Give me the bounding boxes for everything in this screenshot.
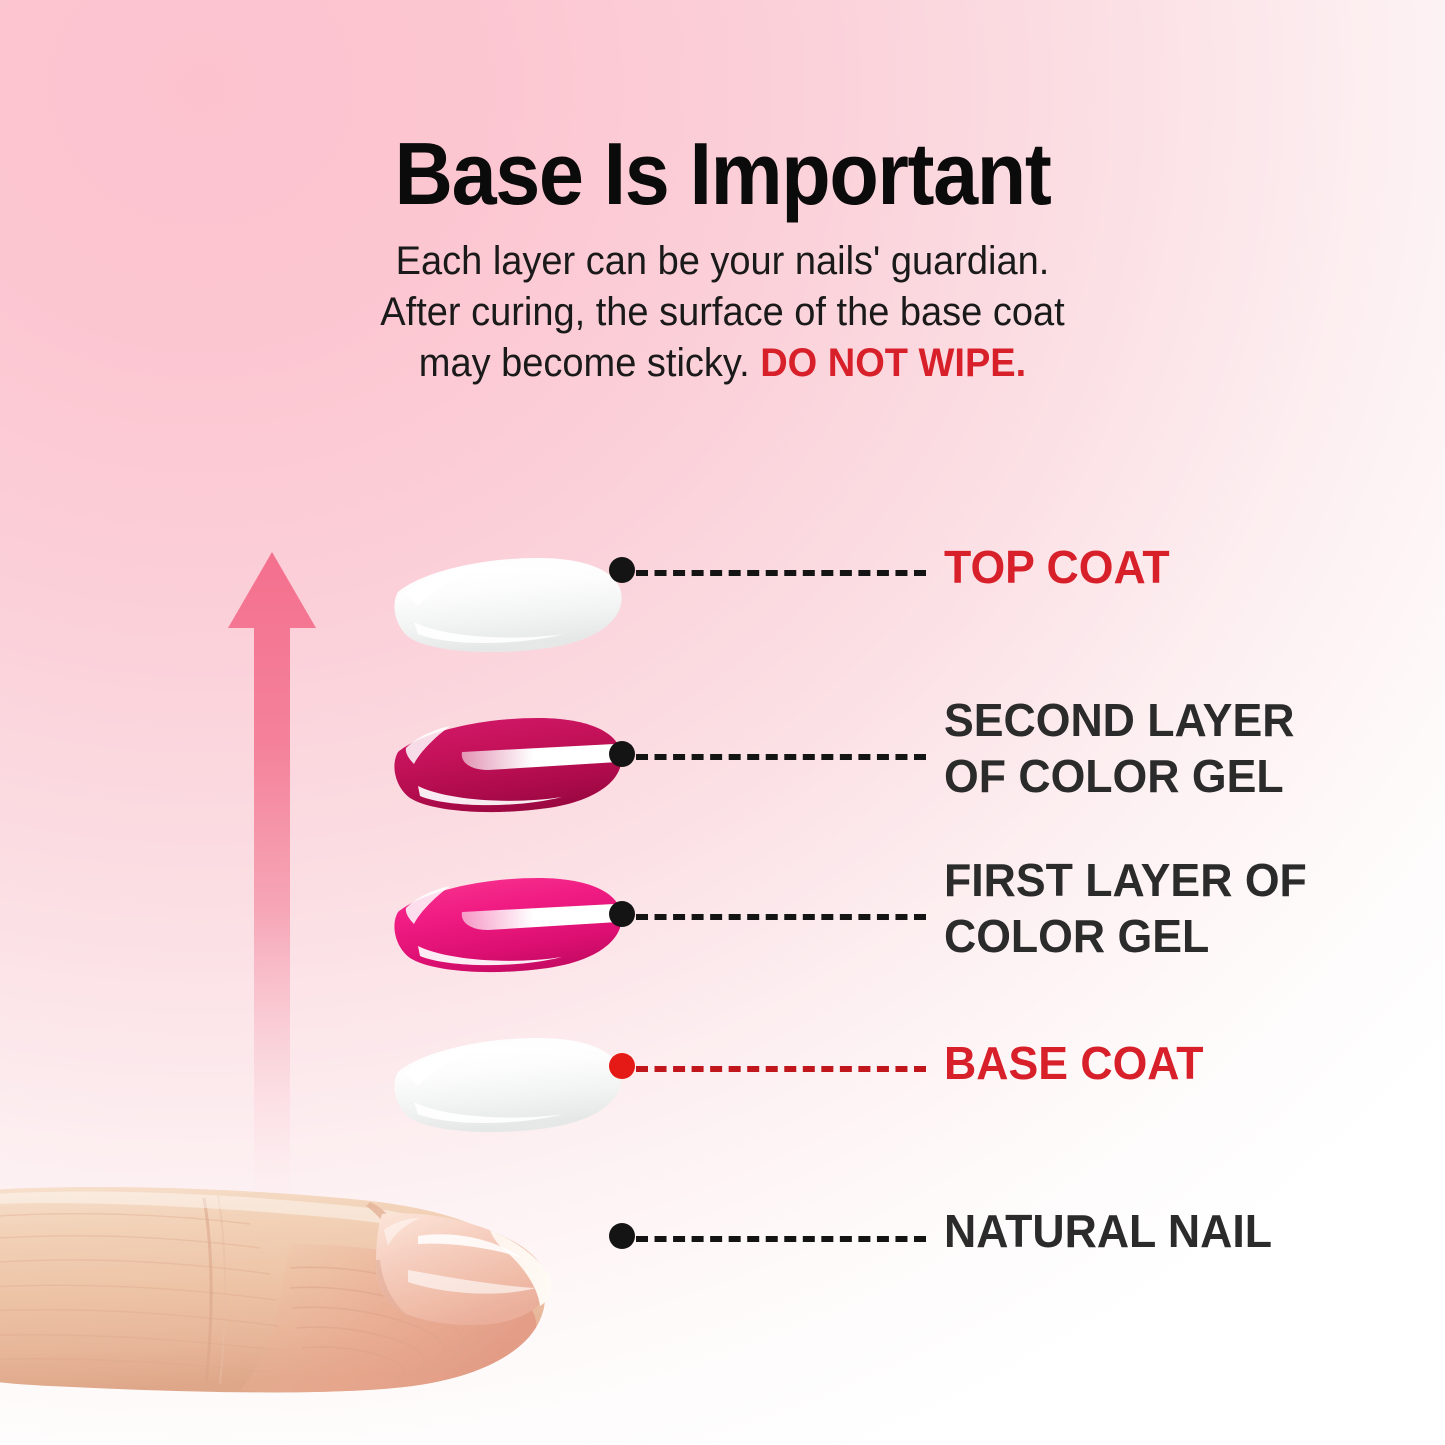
- page-subtitle: Each layer can be your nails' guardian. …: [36, 236, 1409, 389]
- infographic-canvas: Base Is Important Each layer can be your…: [0, 0, 1445, 1445]
- leader-line-top-coat: [636, 570, 926, 576]
- subtitle-line-3-text: may become sticky.: [419, 341, 760, 385]
- do-not-wipe-warning: DO NOT WIPE.: [760, 341, 1026, 385]
- page-title: Base Is Important: [58, 126, 1387, 222]
- upward-arrow-icon: [224, 548, 320, 1248]
- subtitle-line-2: After curing, the surface of the base co…: [36, 287, 1409, 338]
- layer-label-line: NATURAL NAIL: [944, 1205, 1272, 1257]
- leader-dot-natural-nail: [609, 1223, 635, 1249]
- layer-label-line: FIRST LAYER OF: [944, 854, 1307, 906]
- layer-label-second-layer: SECOND LAYER OF COLOR GEL: [944, 692, 1400, 804]
- leader-line-second-layer: [636, 754, 926, 760]
- leader-line-natural-nail: [636, 1236, 926, 1242]
- layer-label-line: BASE COAT: [944, 1037, 1203, 1089]
- subtitle-line-1: Each layer can be your nails' guardian.: [36, 236, 1409, 287]
- nail-swatch-base-coat: [388, 1028, 636, 1152]
- layer-label-line: COLOR GEL: [944, 910, 1209, 962]
- leader-dot-top-coat: [609, 557, 635, 583]
- layer-label-line: OF COLOR GEL: [944, 750, 1284, 802]
- layer-label-top-coat: TOP COAT: [944, 539, 1400, 595]
- subtitle-line-3: may become sticky. DO NOT WIPE.: [36, 338, 1409, 389]
- nail-swatch-top-coat: [388, 548, 636, 672]
- finger-with-natural-nail-illustration: [0, 1148, 610, 1445]
- nail-swatch-second-layer: [388, 708, 636, 832]
- leader-line-first-layer: [636, 914, 926, 920]
- layer-label-natural-nail: NATURAL NAIL: [944, 1203, 1400, 1259]
- leader-line-base-coat: [636, 1066, 926, 1072]
- layer-label-line: TOP COAT: [944, 541, 1170, 593]
- layer-label-line: SECOND LAYER: [944, 694, 1294, 746]
- leader-dot-first-layer: [609, 901, 635, 927]
- leader-dot-second-layer: [609, 741, 635, 767]
- nail-swatch-first-layer: [388, 868, 636, 992]
- leader-dot-base-coat: [609, 1053, 635, 1079]
- layer-label-first-layer: FIRST LAYER OF COLOR GEL: [944, 852, 1400, 964]
- header-block: Base Is Important Each layer can be your…: [0, 126, 1445, 389]
- layer-label-base-coat: BASE COAT: [944, 1035, 1400, 1091]
